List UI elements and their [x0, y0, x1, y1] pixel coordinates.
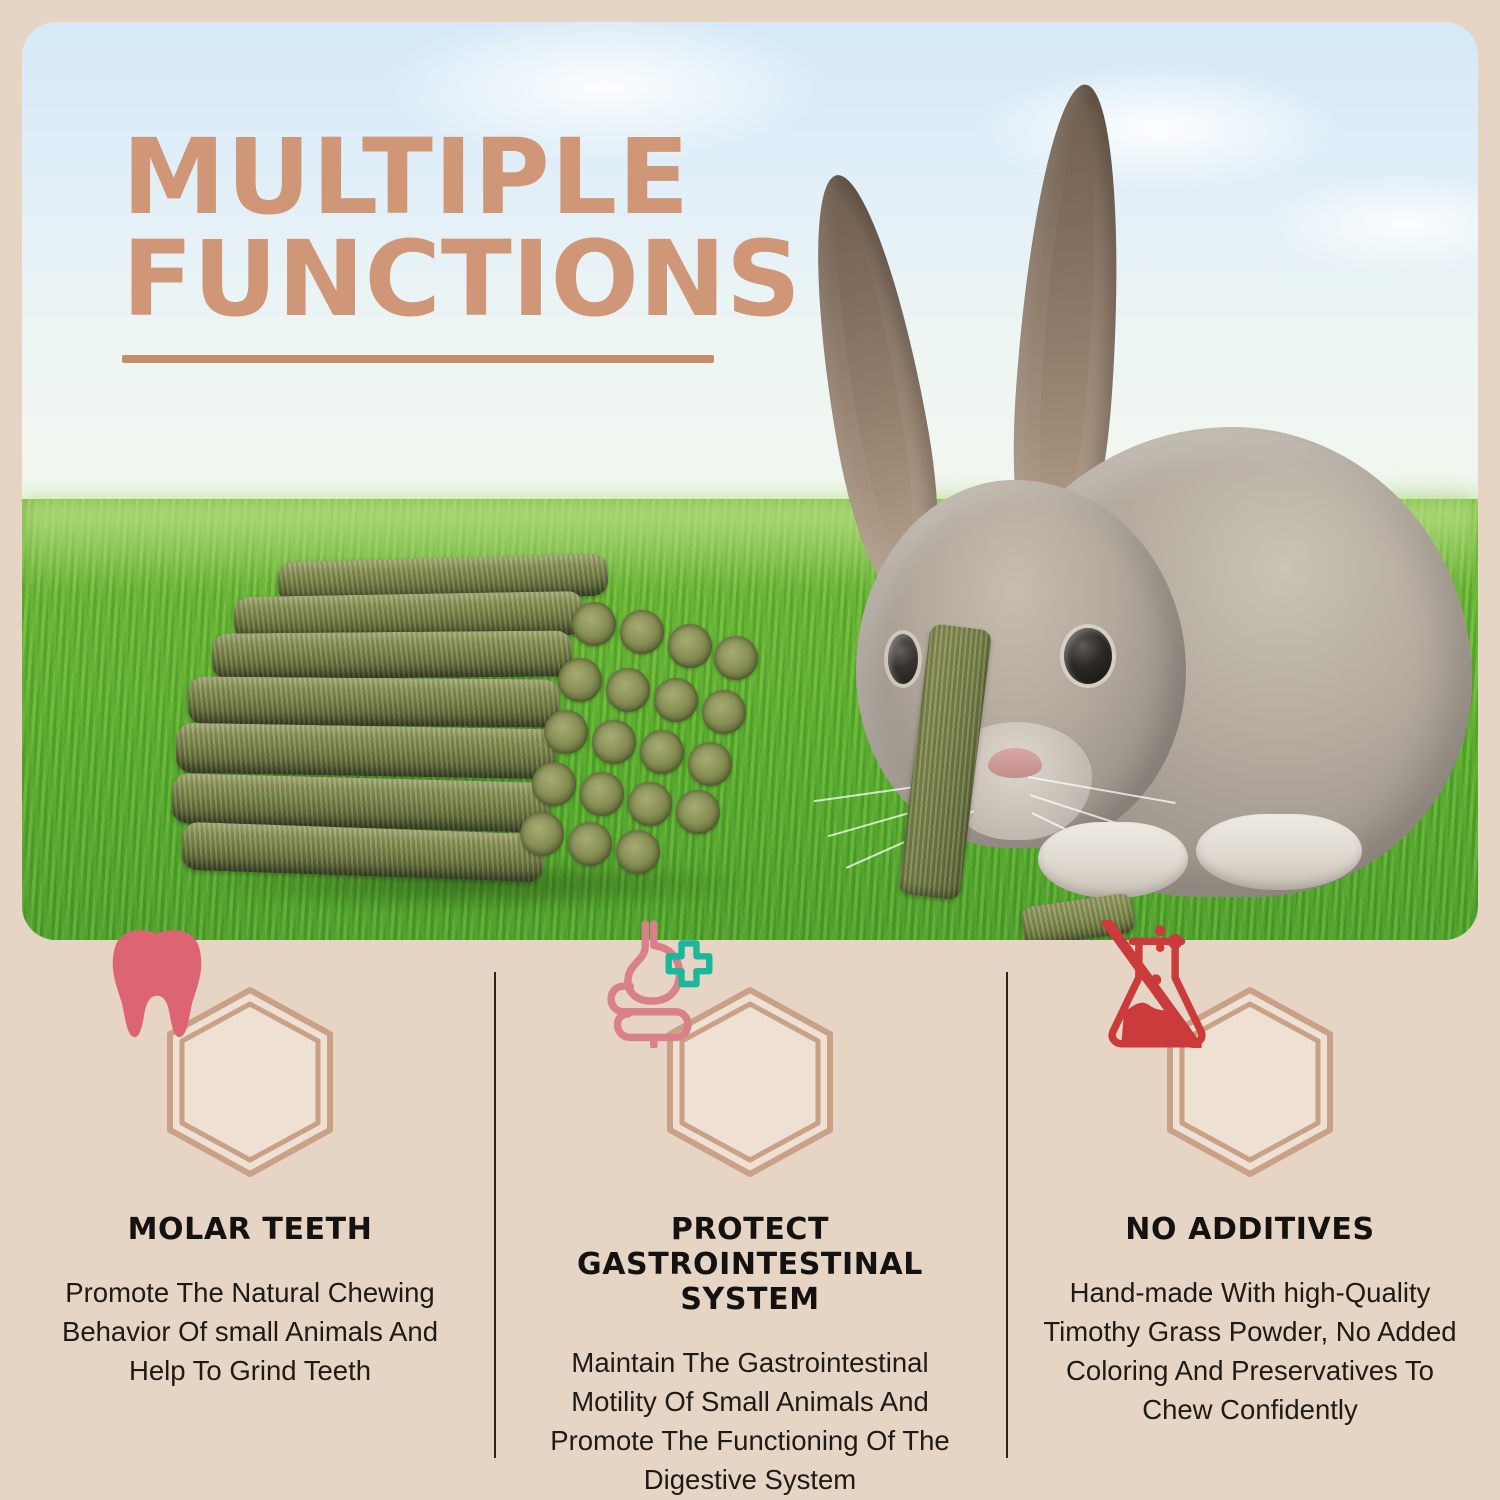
rabbit-paw-front: [1038, 822, 1188, 898]
feature-gastrointestinal: PROTECT GASTROINTESTINAL SYSTEM Maintain…: [500, 962, 1000, 1500]
feature-description: Hand-made With high-Quality Timothy Gras…: [1026, 1273, 1474, 1429]
hero-photo-panel: MULTIPLE FUNCTIONS: [22, 22, 1478, 940]
tooth-icon-badge: [157, 984, 343, 1180]
hay-stick-end: [572, 602, 616, 646]
feature-no-additives: NO ADDITIVES Hand-made With high-Quality…: [1000, 962, 1500, 1500]
rabbit-paw-back: [1196, 814, 1362, 890]
features-row: MOLAR TEETH Promote The Natural Chewing …: [0, 962, 1500, 1500]
no-additives-flask-icon: [1098, 920, 1216, 1048]
hay-stick-end: [676, 790, 720, 834]
hay-stick-end: [616, 830, 660, 874]
tooth-icon: [103, 925, 211, 1043]
rabbit-eye-right: [1064, 628, 1112, 684]
feature-title: MOLAR TEETH: [26, 1212, 474, 1247]
hay-stick-end: [532, 762, 576, 806]
feature-description: Maintain The Gastrointestinal Motility O…: [526, 1343, 974, 1499]
hero-title-line-2: FUNCTIONS: [122, 229, 822, 331]
feature-description: Promote The Natural Chewing Behavior Of …: [26, 1273, 474, 1390]
hay-stick-end: [628, 782, 672, 826]
hay-stick-end: [640, 730, 684, 774]
hay-stick-pile: [172, 550, 792, 920]
hero-title-line-1: MULTIPLE: [122, 127, 822, 229]
rabbit-eye-left: [888, 634, 918, 684]
hay-stick-end: [714, 636, 758, 680]
hay-stick-end: [592, 720, 636, 764]
hay-stick-end: [606, 668, 650, 712]
hay-stick-end: [520, 812, 564, 856]
stomach-intestine-icon: [597, 920, 717, 1048]
hero-title-underline: [122, 355, 714, 363]
gastrointestinal-icon-badge: [657, 984, 843, 1180]
hay-stick: [176, 723, 557, 780]
hay-stick-end: [580, 772, 624, 816]
feature-molar-teeth: MOLAR TEETH Promote The Natural Chewing …: [0, 962, 500, 1500]
hay-stick-end: [654, 678, 698, 722]
hay-stick-end: [620, 610, 664, 654]
hay-stick-end: [558, 658, 602, 702]
hay-stick-end: [544, 710, 588, 754]
no-additives-icon-badge: [1157, 984, 1343, 1180]
hay-stick-end: [668, 624, 712, 668]
rabbit-illustration: [792, 32, 1478, 932]
hay-stick-end: [702, 690, 746, 734]
feature-title: NO ADDITIVES: [1026, 1212, 1474, 1247]
hay-stick: [188, 676, 560, 727]
feature-title: PROTECT GASTROINTESTINAL SYSTEM: [526, 1212, 974, 1317]
hay-stick: [212, 630, 572, 679]
hay-stick-end: [568, 822, 612, 866]
hay-stick-end: [688, 742, 732, 786]
hero-title-block: MULTIPLE FUNCTIONS: [122, 127, 822, 363]
